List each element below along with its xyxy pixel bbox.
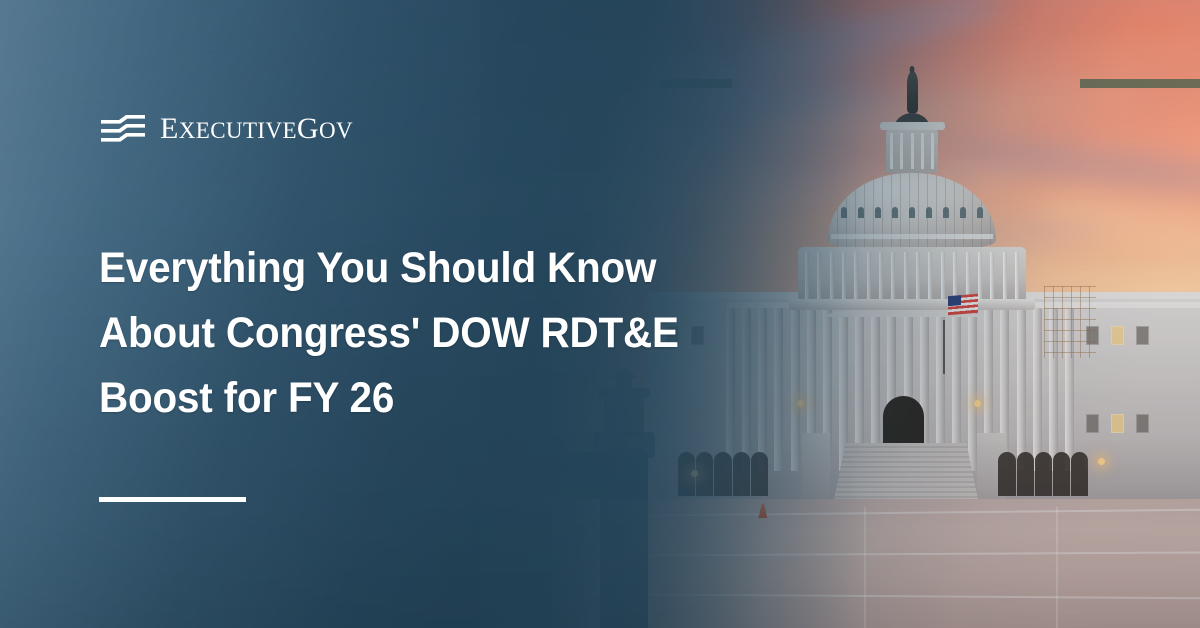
wordmark-cap-e: E xyxy=(160,112,179,145)
card-content: EXECUTIVEGOV Everything You Should Know … xyxy=(0,0,1200,628)
headline-line-2: About Congress' DOW RDT&E xyxy=(99,301,625,366)
headline-line-1: Everything You Should Know xyxy=(99,236,625,301)
page-title: Everything You Should Know About Congres… xyxy=(99,236,625,431)
wordmark-cap-g: G xyxy=(297,112,319,145)
social-share-card: EXECUTIVEGOV Everything You Should Know … xyxy=(0,0,1200,628)
title-divider xyxy=(99,497,246,502)
brand-wordmark: EXECUTIVEGOV xyxy=(160,114,353,144)
wordmark-ov: OV xyxy=(319,118,353,143)
headline-line-3: Boost for FY 26 xyxy=(99,366,625,431)
wordmark-xecutive: XECUTIVE xyxy=(179,118,297,143)
brand-logo[interactable]: EXECUTIVEGOV xyxy=(99,112,353,146)
three-wave-lines-icon xyxy=(99,112,147,146)
